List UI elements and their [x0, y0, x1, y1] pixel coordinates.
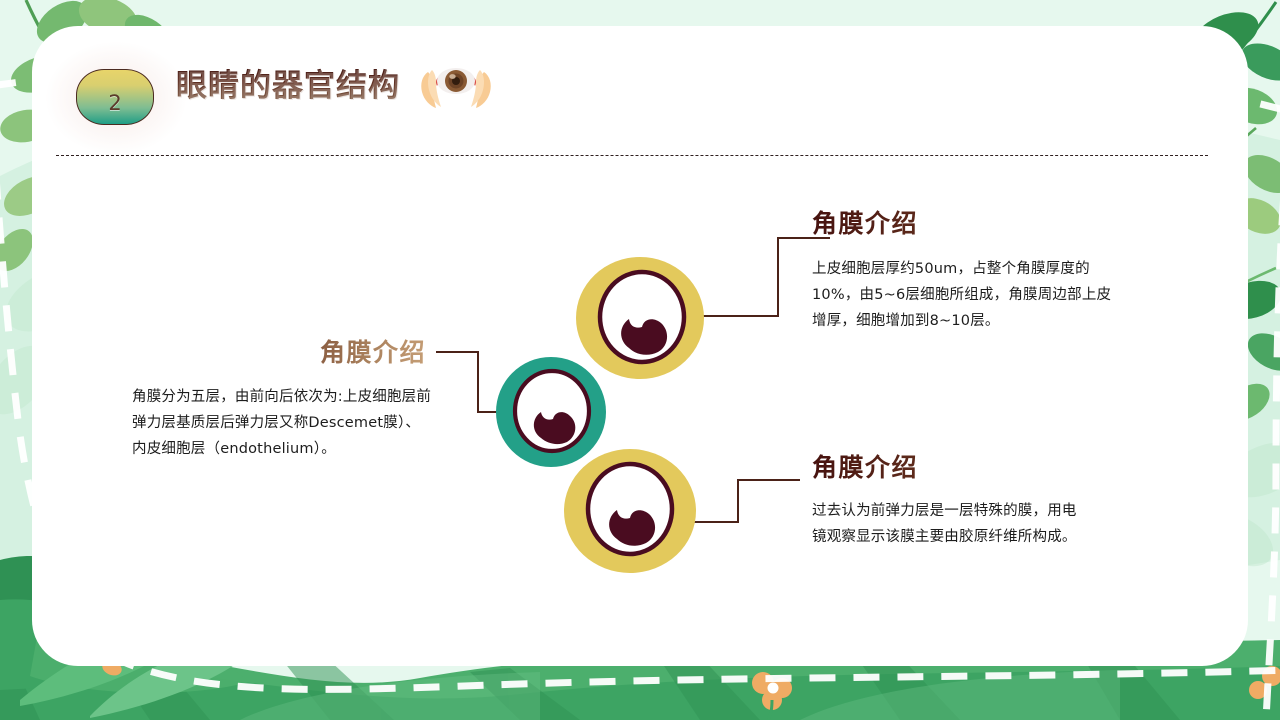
callout-bottom: 角膜介绍 过去认为前弹力层是一层特殊的膜，用电镜观察显示该膜主要由胶原纤维所构成…: [812, 448, 1082, 550]
section-number-badge: 2: [76, 69, 154, 125]
section-number-label: 2: [108, 91, 121, 115]
page-title: 眼睛的器官结构: [176, 60, 400, 105]
callout-bottom-body: 过去认为前弹力层是一层特殊的膜，用电镜观察显示该膜主要由胶原纤维所构成。: [812, 498, 1082, 550]
header-divider: [56, 155, 1208, 156]
callout-bottom-heading: 角膜介绍: [812, 448, 1082, 484]
eye-in-hands-emoji: [416, 62, 496, 110]
callout-left-heading: 角膜介绍: [132, 333, 432, 369]
callout-top-heading: 角膜介绍: [812, 204, 1112, 240]
callout-top: 角膜介绍 上皮细胞层厚约50um，占整个角膜厚度的10%，由5~6层细胞所组成，…: [812, 204, 1112, 334]
callout-left-body: 角膜分为五层，由前向后依次为:上皮细胞层前弹力层基质层后弹力层又称Desceme…: [132, 384, 432, 462]
eye-marker-bottom[interactable]: [560, 447, 700, 575]
callout-top-body: 上皮细胞层厚约50um，占整个角膜厚度的10%，由5~6层细胞所组成，角膜周边部…: [812, 256, 1112, 334]
callout-left: 角膜介绍 角膜分为五层，由前向后依次为:上皮细胞层前弹力层基质层后弹力层又称De…: [132, 333, 432, 462]
